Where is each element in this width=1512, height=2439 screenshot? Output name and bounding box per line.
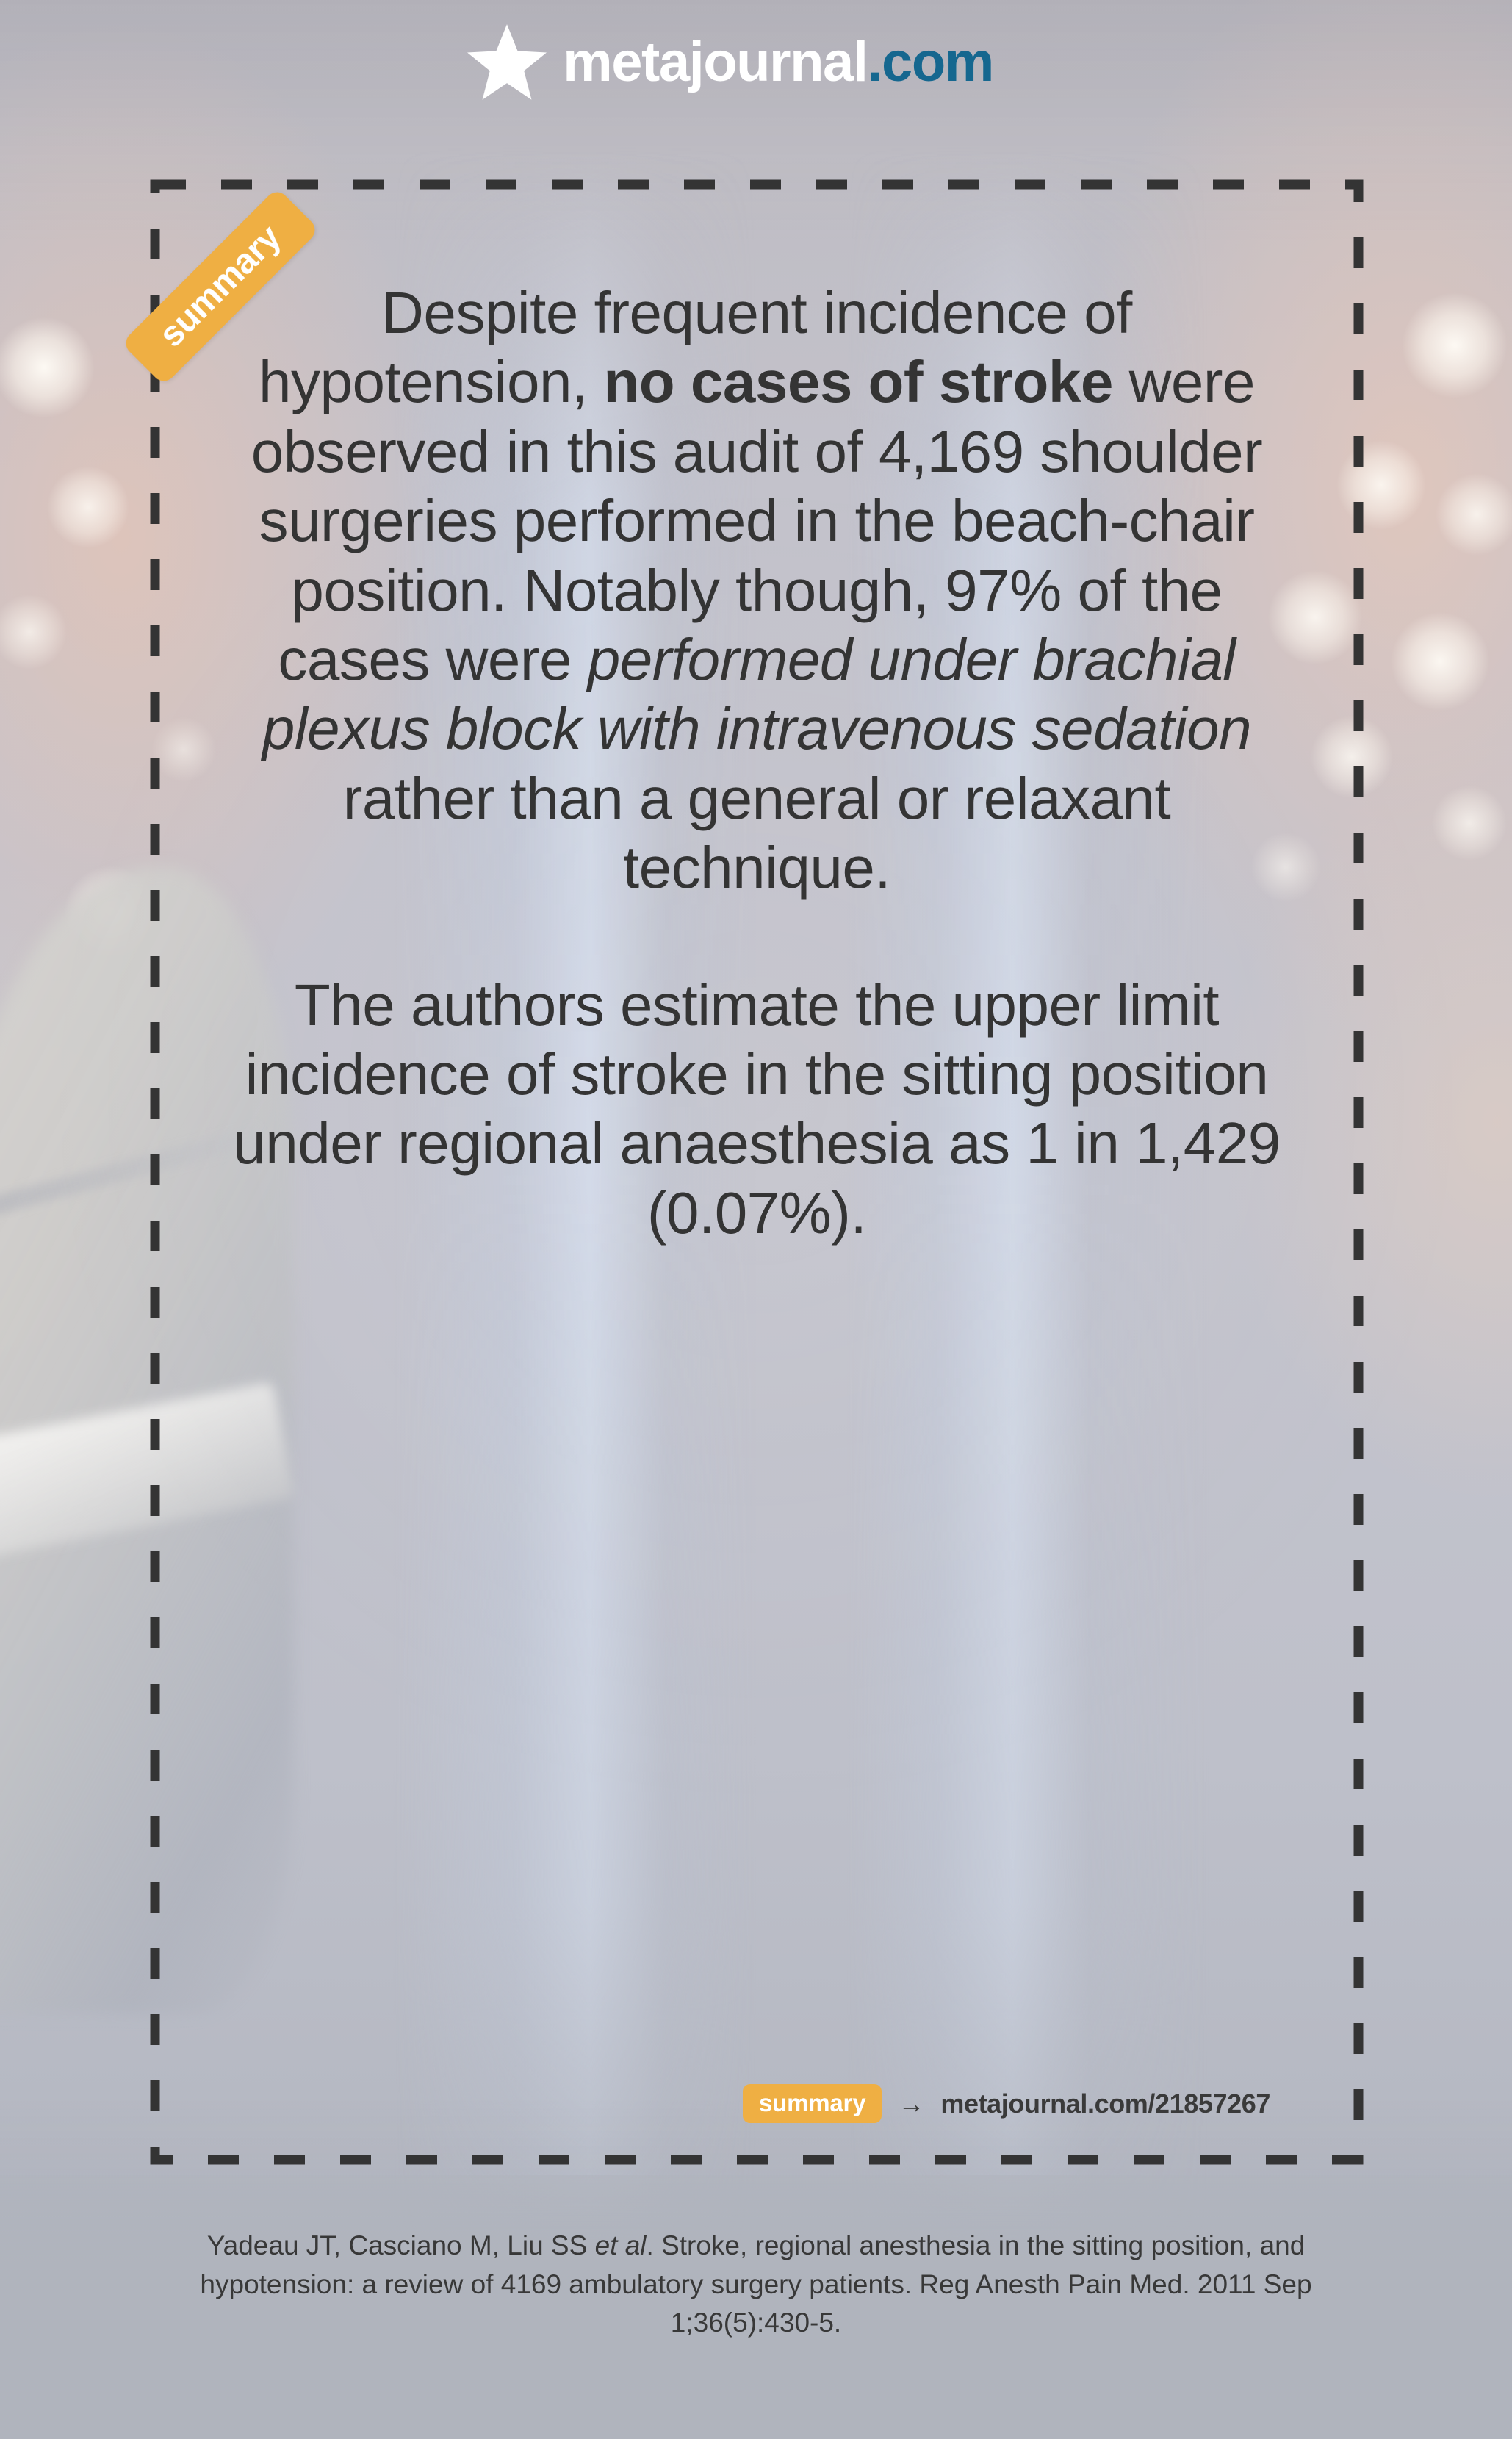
brand-wordmark: metajournal.com: [563, 35, 993, 90]
star-icon: [467, 24, 547, 101]
brand-logo[interactable]: metajournal.com: [467, 24, 993, 101]
summary-box: summary Despite frequent incidence of hy…: [151, 180, 1363, 2164]
brand-tld: .com: [867, 31, 993, 93]
citation-et-al: et al: [595, 2230, 647, 2260]
source-url-label[interactable]: metajournal.com/21857267: [940, 2091, 1270, 2117]
summary-source-link[interactable]: summary → metajournal.com/21857267: [202, 2084, 1311, 2135]
summary-card: metajournal.com summary Despite frequent…: [0, 0, 1512, 2439]
citation: Yadeau JT, Casciano M, Liu SS et al. Str…: [129, 2227, 1383, 2343]
brand-name: metajournal: [563, 31, 867, 93]
summary-content: Despite frequent incidence of hypotensio…: [202, 231, 1311, 2135]
arrow-right-icon: →: [898, 2091, 924, 2117]
summary-paragraph-1: Despite frequent incidence of hypotensio…: [202, 279, 1311, 903]
summary-paragraph-2: The authors estimate the upper limit inc…: [202, 971, 1311, 1249]
citation-authors: Yadeau JT, Casciano M, Liu SS: [207, 2230, 595, 2260]
summary-p1-seg5: rather than a general or relaxant techni…: [343, 766, 1170, 900]
summary-p1-highlight: no cases of stroke: [603, 349, 1113, 414]
summary-chip-badge: summary: [743, 2084, 882, 2123]
site-header: metajournal.com: [0, 0, 1512, 125]
